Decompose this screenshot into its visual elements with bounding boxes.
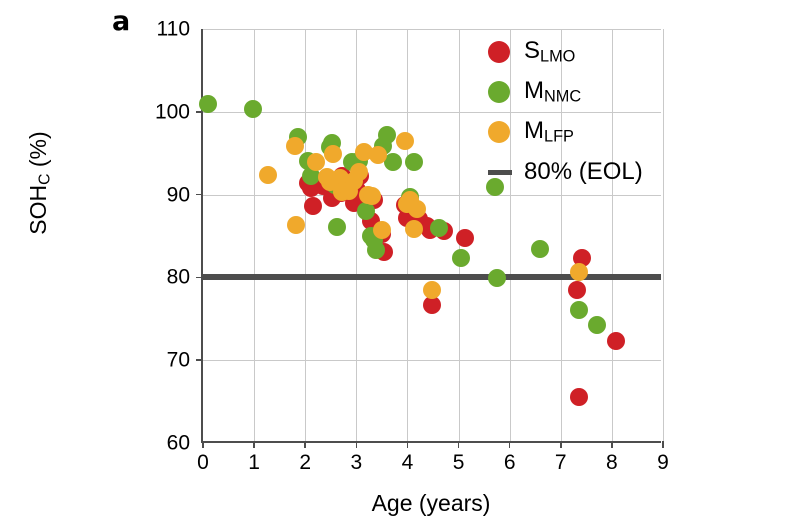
gridline-horizontal (203, 29, 661, 30)
x-axis-tick (202, 441, 204, 448)
data-point-s-lmo (456, 229, 474, 247)
x-axis-tick-label: 8 (606, 452, 618, 473)
legend-label-subscript: NMC (544, 88, 581, 106)
legend-label: MLFP (524, 119, 574, 145)
data-point-m-lfp (373, 221, 391, 239)
y-axis-tick-label: 100 (155, 101, 190, 122)
y-axis-title-subscript: C (36, 174, 53, 185)
x-axis-tick-label: 0 (197, 452, 209, 473)
data-point-s-lmo (570, 388, 588, 406)
data-point-m-nmc (384, 153, 402, 171)
x-axis-tick-label: 4 (402, 452, 414, 473)
legend-label: MNMC (524, 79, 581, 105)
legend-line-icon (488, 170, 512, 175)
legend-label-subscript: LMO (540, 48, 575, 66)
scatter-figure: a 012345678960708090100110 Age (years) S… (0, 0, 800, 530)
y-axis-title-unit: (%) (25, 131, 51, 173)
legend-circle-icon (488, 121, 510, 143)
data-point-m-lfp (408, 200, 426, 218)
data-point-m-nmc (570, 301, 588, 319)
data-point-m-nmc (405, 153, 423, 171)
x-axis-tick (560, 441, 562, 448)
legend-item-mnmc[interactable]: MNMC (488, 72, 688, 112)
y-axis-tick (196, 111, 203, 113)
data-point-m-lfp (423, 281, 441, 299)
data-point-s-lmo (607, 332, 625, 350)
data-point-m-nmc (378, 126, 396, 144)
x-axis-tick-label: 5 (453, 452, 465, 473)
data-point-m-nmc (199, 95, 217, 113)
legend-circle-icon (488, 81, 510, 103)
y-axis-title-main: SOH (25, 185, 51, 235)
x-axis-tick-label: 2 (299, 452, 311, 473)
data-point-m-nmc (244, 100, 262, 118)
legend-item-eol[interactable]: 80% (EOL) (488, 152, 688, 192)
x-axis-tick (407, 441, 409, 448)
x-axis-tick-label: 6 (504, 452, 516, 473)
y-axis-tick-label: 60 (167, 433, 190, 454)
x-axis-tick-label: 1 (248, 452, 260, 473)
data-point-m-lfp (396, 132, 414, 150)
legend-item-mlfp[interactable]: MLFP (488, 112, 688, 152)
y-axis-tick (196, 277, 203, 279)
legend-label-subscript: LFP (544, 128, 574, 146)
gridline-horizontal (203, 195, 661, 196)
legend-item-slmo[interactable]: SLMO (488, 32, 688, 72)
data-point-m-nmc (531, 240, 549, 258)
y-axis-title: SOHC (%) (27, 83, 53, 283)
x-axis-tick (356, 441, 358, 448)
data-point-m-nmc (367, 241, 385, 259)
data-point-m-lfp (350, 163, 368, 181)
gridline-vertical (305, 29, 306, 441)
x-axis-tick (662, 441, 664, 448)
x-axis-tick-label: 3 (350, 452, 362, 473)
data-point-s-lmo (304, 197, 322, 215)
data-point-m-nmc (588, 316, 606, 334)
y-axis-tick (196, 359, 203, 361)
data-point-m-lfp (324, 145, 342, 163)
x-axis-tick (458, 441, 460, 448)
x-axis-tick (611, 441, 613, 448)
x-axis-tick (253, 441, 255, 448)
y-axis-tick-label: 110 (157, 19, 190, 40)
data-point-m-lfp (405, 220, 423, 238)
y-axis-tick (196, 194, 203, 196)
legend-label: 80% (EOL) (524, 160, 643, 184)
y-axis-tick-label: 80 (167, 267, 190, 288)
data-point-m-nmc (488, 269, 506, 287)
data-point-m-nmc (452, 249, 470, 267)
data-point-m-lfp (286, 137, 304, 155)
data-point-m-nmc (430, 219, 448, 237)
data-point-m-nmc (328, 218, 346, 236)
gridline-horizontal (203, 360, 661, 361)
y-axis-tick-label: 70 (167, 350, 190, 371)
y-axis-tick-label: 90 (167, 184, 190, 205)
data-point-m-lfp (287, 216, 305, 234)
x-axis-title: Age (years) (201, 492, 661, 515)
x-axis-tick-label: 7 (555, 452, 567, 473)
x-axis-tick (304, 441, 306, 448)
gridline-vertical (254, 29, 255, 441)
legend: SLMOMNMCMLFP80% (EOL) (488, 32, 688, 192)
eol-threshold-line (203, 274, 661, 280)
legend-circle-icon (488, 41, 510, 63)
x-axis-tick (509, 441, 511, 448)
legend-label: SLMO (524, 39, 575, 65)
data-point-m-lfp (259, 166, 277, 184)
data-point-m-lfp (363, 187, 381, 205)
x-axis-tick-label: 9 (657, 452, 669, 473)
data-point-s-lmo (568, 281, 586, 299)
data-point-m-lfp (369, 146, 387, 164)
gridline-vertical (356, 29, 357, 441)
data-point-m-lfp (570, 263, 588, 281)
panel-label: a (112, 8, 130, 35)
